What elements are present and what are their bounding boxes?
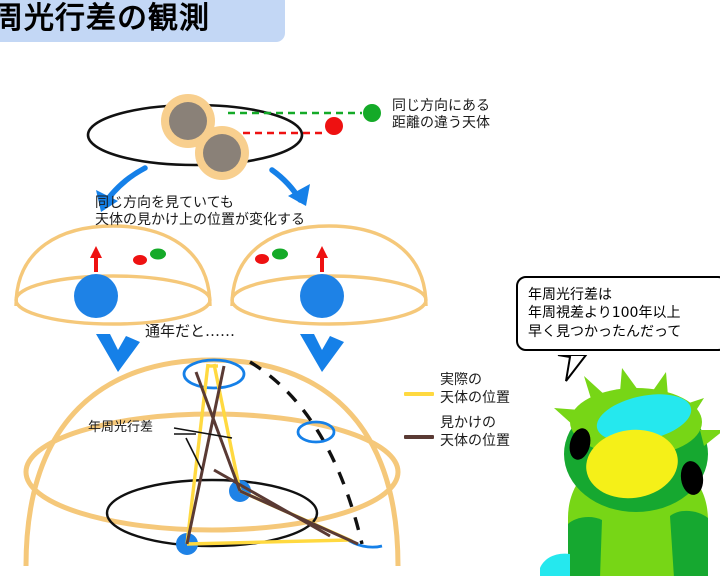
bottom-sphere-diagram: [26, 360, 398, 566]
object-near-red-right-dome: [255, 254, 269, 264]
ray-actual-3: [187, 540, 350, 544]
middle-dome-left: [16, 226, 210, 324]
legend: 実際の 天体の位置 見かけの 天体の位置: [404, 372, 544, 458]
big-dome-horizon: [26, 414, 398, 530]
mascot-shoulder-left: [568, 517, 602, 576]
view-arrow-left-head: [90, 246, 102, 258]
mascot-arm-left: [540, 554, 570, 576]
down-arrow-left: [96, 334, 140, 372]
label-same-direction-objects: 同じ方向にある 距離の違う天体: [392, 98, 490, 132]
legend-item-actual: 実際の 天体の位置: [404, 372, 544, 407]
object-far-green-right-dome: [272, 249, 288, 260]
diagram-page: 年周光行差の観測: [0, 0, 720, 576]
object-far-green-left-dome: [150, 249, 166, 260]
speech-bubble-tail: [556, 355, 596, 383]
legend-label-actual: 実際の 天体の位置: [440, 372, 510, 407]
earth-body-near: [203, 134, 241, 172]
object-near-red-top: [325, 117, 343, 135]
speech-bubble: 年周光行差は 年周視差より100年以上 早く見つかったんだって: [516, 276, 720, 351]
observer-left: [74, 274, 118, 318]
observer-right: [300, 274, 344, 318]
label-all-year: 通年だと……: [145, 322, 235, 340]
earth-body-far: [169, 102, 207, 140]
view-arrow-right-head: [316, 246, 328, 258]
down-arrow-right: [300, 334, 344, 372]
leader-line-a: [174, 428, 232, 438]
legend-swatch-apparent: [404, 435, 434, 439]
mascot-dinosaur: [540, 368, 720, 576]
dashed-meridian: [250, 362, 362, 544]
object-far-green-top: [363, 104, 381, 122]
mascot-shoulder-right: [670, 511, 708, 576]
legend-item-apparent: 見かけの 天体の位置: [404, 415, 544, 450]
label-apparent-position-changes: 同じ方向を見ていても 天体の見かけ上の位置が変化する: [95, 195, 305, 229]
legend-swatch-actual: [404, 392, 434, 396]
object-near-red-left-dome: [133, 255, 147, 265]
legend-label-apparent: 見かけの 天体の位置: [440, 415, 510, 450]
label-annual-aberration: 年周光行差: [88, 420, 153, 436]
middle-dome-right: [232, 226, 426, 324]
